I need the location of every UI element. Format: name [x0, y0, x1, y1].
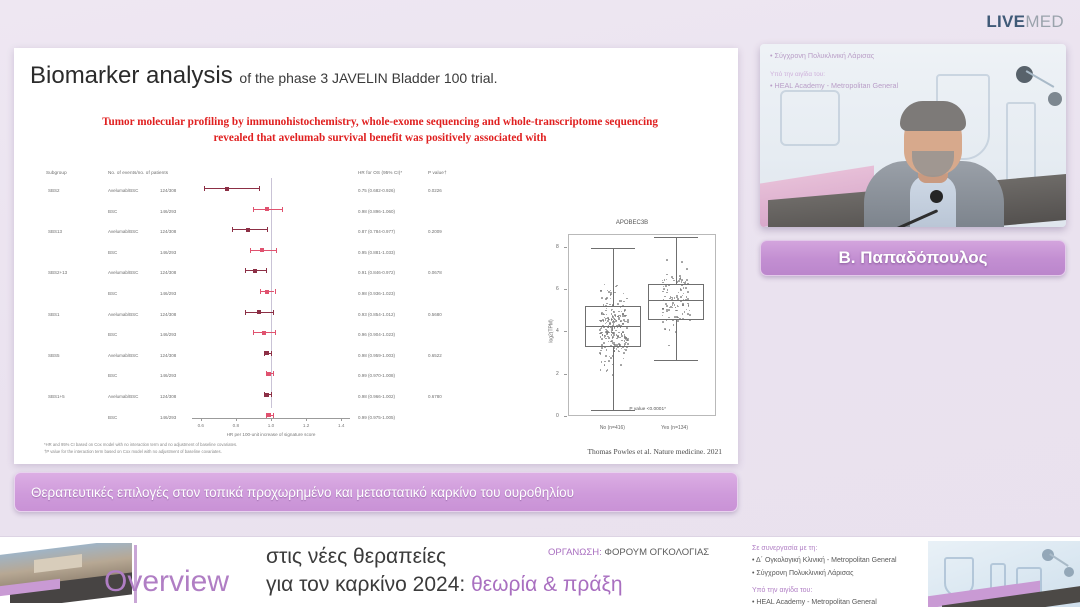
forest-ci-cap: [266, 268, 267, 273]
session-topic-text: Θεραπευτικές επιλογές στον τοπικά προχωρ…: [31, 485, 574, 500]
boxplot-whisker-cap: [654, 360, 698, 361]
speaker-name: Β. Παπαδόπουλος: [839, 248, 988, 268]
highlight-line-1: Tumor molecular profiling by immunohisto…: [36, 114, 724, 130]
boxplot-data-point: [689, 319, 691, 321]
forest-ci-cap: [259, 186, 260, 191]
boxplot-data-point: [600, 369, 602, 371]
forest-point-estimate: [257, 310, 261, 314]
boxplot-data-point: [605, 355, 607, 357]
forest-ci-cap: [275, 330, 276, 335]
forest-arm: BSC: [108, 373, 117, 378]
forest-plot: Subgroup No. of events/no. of patients H…: [40, 170, 460, 420]
presentation-slide[interactable]: Biomarker analysis of the phase 3 JAVELI…: [14, 48, 738, 464]
footer-headline-line1: στις νέες θεραπείες: [266, 545, 446, 569]
forest-ci-cap: [204, 186, 205, 191]
footnote-2: †P value for the interaction term based …: [44, 449, 237, 456]
livemed-logo: LIVEMED: [986, 8, 1064, 34]
forest-tick-label: 1.4: [338, 423, 344, 428]
boxplot-frame: P value <0.0001*: [568, 234, 716, 416]
forest-plot-area: [192, 178, 350, 418]
boxplot-y-tick: [564, 247, 567, 248]
boxplot-data-point: [604, 361, 606, 363]
boxplot-data-point: [623, 293, 625, 295]
boxplot-y-tick-label: 2: [556, 371, 559, 377]
forest-events: 124/308: [160, 312, 176, 317]
forest-hr-value: 0.96 (0.904-1.023): [358, 332, 395, 337]
forest-point-estimate: [225, 187, 229, 191]
boxplot-data-point: [686, 279, 688, 281]
speaker-nameplate: Β. Παπαδόπουλος: [760, 240, 1066, 276]
boxplot-whisker: [676, 237, 677, 284]
video-backdrop-text: • Σύγχρονη Πολυκλινική Λάρισας Υπό την α…: [770, 50, 898, 92]
boxplot-data-point: [681, 261, 683, 263]
boxplot-data-point: [625, 349, 627, 351]
logo-live-text: LIVE: [986, 12, 1025, 31]
forest-hr-value: 0.91 (0.846-0.972): [358, 270, 395, 275]
forest-ci-cap: [276, 248, 277, 253]
boxplot-y-tick-label: 4: [556, 328, 559, 334]
session-topic-banner: Θεραπευτικές επιλογές στον τοπικά προχωρ…: [14, 472, 738, 512]
boxplot-data-point: [606, 349, 608, 351]
forest-arm: Avelumab/BSC: [108, 270, 138, 275]
molecule-bond-icon: [1049, 553, 1069, 567]
forest-point-estimate: [267, 413, 271, 417]
boxplot-x-category-label: Yes (n=134): [661, 425, 688, 431]
boxplot-data-point: [610, 357, 612, 359]
forest-events: 124/308: [160, 270, 176, 275]
forest-ci-cap: [250, 248, 251, 253]
boxplot-y-tick-label: 0: [556, 413, 559, 419]
boxplot-data-point: [610, 293, 612, 295]
boxplot-data-point: [679, 275, 681, 277]
forest-ci-cap: [245, 310, 246, 315]
footer-organizer: ΟΡΓΑΝΩΣΗ: ΦΟΡΟΥΜ ΟΓΚΟΛΟΓΙΑΣ: [548, 547, 709, 558]
forest-hr-value: 0.98 (0.896-1.060): [358, 209, 395, 214]
event-footer: Overview στις νέες θεραπείες για τον καρ…: [0, 536, 1080, 608]
forest-ci-cap: [271, 392, 272, 397]
boxplot-y-tick-label: 6: [556, 286, 559, 292]
app-root: LIVEMED Biomarker analysis of the phase …: [0, 0, 1080, 608]
forest-header-hr: HR for OS (95% CI)*: [358, 170, 402, 175]
forest-ci-cap: [273, 371, 274, 376]
speaker-video[interactable]: • Σύγχρονη Πολυκλινική Λάρισας Υπό την α…: [760, 44, 1066, 227]
forest-subgroup: SBS2: [48, 188, 60, 193]
boxplot-whisker: [613, 248, 614, 306]
forest-tick-label: 0.8: [233, 423, 239, 428]
forest-p-value: 0.6522: [428, 353, 442, 358]
footer-organizer-value: ΦΟΡΟΥΜ ΟΓΚΟΛΟΓΙΑΣ: [602, 547, 709, 558]
forest-point-estimate: [265, 351, 269, 355]
footer-overview-label: Overview: [104, 565, 229, 599]
forest-subgroup: SBS1: [48, 312, 60, 317]
forest-tick: [341, 418, 342, 421]
boxplot-y-tick-label: 8: [556, 244, 559, 250]
boxplot-y-axis-label: log2(TPM): [549, 319, 555, 342]
boxplot-y-tick: [564, 331, 567, 332]
boxplot-data-point: [610, 298, 612, 300]
boxplot-data-point: [681, 281, 683, 283]
boxplot-title: APOBEC3B: [542, 220, 722, 226]
forest-events: 146/293: [160, 291, 176, 296]
forest-ci-cap: [232, 227, 233, 232]
forest-arm: BSC: [108, 291, 117, 296]
boxplot-data-point: [662, 321, 664, 323]
forest-ci-cap: [253, 330, 254, 335]
forest-ci-line: [204, 188, 258, 189]
footer-coop-2: • Σύγχρονη Πολυκλινική Λάρισας: [752, 568, 897, 580]
slide-highlight-text: Tumor molecular profiling by immunohisto…: [36, 114, 724, 146]
footer-aegis-title: Υπό την αιγίδα του:: [752, 585, 897, 597]
speaker-figure: [858, 99, 1008, 227]
slide-title: Biomarker analysis of the phase 3 JAVELI…: [30, 62, 726, 90]
boxplot-whisker: [613, 347, 614, 409]
forest-hr-value: 0.75 (0.682-0.926): [358, 188, 395, 193]
forest-arm: BSC: [108, 209, 117, 214]
boxplot-data-point: [617, 303, 619, 305]
boxplot-data-point: [620, 300, 622, 302]
forest-p-value: 0.5680: [428, 312, 442, 317]
forest-ci-cap: [275, 289, 276, 294]
apobec3b-boxplot: APOBEC3B log2(TPM) P value <0.0001* 0246…: [542, 220, 722, 442]
boxplot-data-point: [685, 281, 687, 283]
boxplot-data-point: [626, 298, 628, 300]
forest-ci-cap: [260, 289, 261, 294]
slide-title-main: Biomarker analysis: [30, 62, 233, 89]
footer-headline-line2: για τον καρκίνο 2024: θεωρία & πράξη: [266, 573, 623, 597]
forest-point-estimate: [246, 228, 250, 232]
forest-hr-value: 0.99 (0.970-1.008): [358, 373, 395, 378]
boxplot-y-tick: [564, 374, 567, 375]
forest-hr-value: 0.98 (0.936-1.023): [358, 291, 395, 296]
boxplot-data-point: [664, 328, 666, 330]
boxplot-data-point: [666, 259, 668, 261]
boxplot-data-point: [673, 324, 675, 326]
boxplot-data-point: [606, 297, 608, 299]
forest-p-value: 0.0678: [428, 270, 442, 275]
logo-med-text: MED: [1025, 12, 1064, 31]
boxplot-data-point: [600, 353, 602, 355]
boxplot-data-point: [623, 358, 625, 360]
forest-p-value: 0.0226: [428, 188, 442, 193]
boxplot-whisker: [676, 320, 677, 360]
forest-tick: [201, 418, 202, 421]
forest-ci-cap: [273, 310, 274, 315]
boxplot-box: [648, 284, 704, 320]
boxplot-data-point: [601, 361, 603, 363]
forest-tick: [271, 418, 272, 421]
forest-hr-value: 0.98 (0.959-1.003): [358, 353, 395, 358]
boxplot-data-point: [614, 292, 616, 294]
boxplot-data-point: [666, 274, 668, 276]
forest-point-estimate: [260, 248, 264, 252]
boxplot-whisker-cap: [654, 237, 698, 238]
boxplot-data-point: [608, 291, 610, 293]
forest-point-estimate: [267, 372, 271, 376]
boxplot-data-point: [686, 268, 688, 270]
microphone-head-icon: [930, 190, 943, 203]
forest-events: 146/293: [160, 332, 176, 337]
slide-title-sub: of the phase 3 JAVELIN Bladder 100 trial…: [239, 70, 497, 86]
boxplot-data-point: [621, 348, 623, 350]
boxplot-pvalue-annotation: P value <0.0001*: [629, 407, 666, 412]
boxplot-data-point: [604, 364, 606, 366]
forest-header-subgroup: Subgroup: [46, 170, 67, 175]
boxplot-data-point: [669, 329, 671, 331]
boxplot-data-point: [608, 360, 610, 362]
beaker-icon: [780, 90, 840, 146]
boxplot-data-point: [677, 320, 679, 322]
forest-events: 124/308: [160, 394, 176, 399]
forest-hr-value: 0.93 (0.854-1.012): [358, 312, 395, 317]
forest-tick-label: 1.0: [268, 423, 274, 428]
boxplot-data-point: [600, 290, 602, 292]
forest-events: 146/293: [160, 250, 176, 255]
forest-tick: [236, 418, 237, 421]
boxplot-data-point: [618, 351, 620, 353]
forest-point-estimate: [253, 269, 257, 273]
boxplot-data-point: [606, 303, 608, 305]
boxplot-median-line: [648, 300, 704, 301]
slide-citation: Thomas Powles et al. Nature medicine. 20…: [587, 447, 722, 456]
slide-footnotes: *HR and 95% CI based on Cox model with n…: [44, 442, 237, 455]
footer-coop-title: Σε συνεργασία με τη:: [752, 543, 897, 555]
molecule-node-icon: [1048, 92, 1062, 106]
forest-hr-value: 0.95 (0.881-1.033): [358, 250, 395, 255]
boxplot-y-tick: [564, 416, 567, 417]
forest-subgroup: SBS5: [48, 353, 60, 358]
forest-arm: Avelumab/BSC: [108, 229, 138, 234]
forest-header-events: No. of events/no. of patients: [108, 170, 168, 175]
footer-coop-1: • Δ΄ Ογκολογική Κλινική - Metropolitan G…: [752, 555, 897, 567]
boxplot-data-point: [601, 297, 603, 299]
forest-point-estimate: [262, 331, 266, 335]
forest-arm: Avelumab/BSC: [108, 353, 138, 358]
highlight-line-2: revealed that avelumab survival benefit …: [36, 130, 724, 146]
forest-tick-label: 1.2: [303, 423, 309, 428]
footer-partners: Σε συνεργασία με τη: • Δ΄ Ογκολογική Κλι…: [752, 543, 897, 608]
forest-arm: BSC: [108, 415, 117, 420]
forest-x-axis-label: HR per 100-unit increase of signature sc…: [192, 432, 350, 437]
forest-hr-value: 0.99 (0.975-1.005): [358, 415, 395, 420]
forest-subgroup: SBS2+13: [48, 270, 67, 275]
boxplot-data-point: [623, 352, 625, 354]
forest-events: 124/308: [160, 229, 176, 234]
boxplot-data-point: [623, 301, 625, 303]
boxplot-data-point: [620, 364, 622, 366]
footer-headline-accent: θεωρία & πράξη: [471, 573, 623, 596]
forest-events: 124/308: [160, 353, 176, 358]
boxplot-y-tick: [564, 289, 567, 290]
forest-subgroup: SBS1+5: [48, 394, 65, 399]
forest-ci-cap: [253, 207, 254, 212]
footer-headline-prefix: για τον καρκίνο 2024:: [266, 573, 471, 596]
forest-events: 146/293: [160, 373, 176, 378]
forest-ci-cap: [271, 351, 272, 356]
forest-tick-label: 0.6: [198, 423, 204, 428]
boxplot-x-category-label: No (n=416): [600, 425, 625, 431]
backdrop-line-2: Υπό την αιγίδα του:: [770, 69, 898, 80]
forest-header-pvalue: P value†: [428, 170, 447, 175]
backdrop-line-1: • Σύγχρονη Πολυκλινική Λάρισας: [770, 50, 898, 63]
forest-ci-cap: [245, 268, 246, 273]
forest-hr-value: 0.98 (0.966-1.002): [358, 394, 395, 399]
forest-point-estimate: [265, 290, 269, 294]
boxplot-whisker-cap: [591, 248, 635, 249]
forest-arm: BSC: [108, 332, 117, 337]
boxplot-data-point: [666, 279, 668, 281]
forest-subgroup: SBS13: [48, 229, 62, 234]
forest-p-value: 0.2009: [428, 229, 442, 234]
forest-events: 146/293: [160, 209, 176, 214]
boxplot-median-line: [585, 326, 641, 327]
forest-arm: Avelumab/BSC: [108, 394, 138, 399]
forest-p-value: 0.6780: [428, 394, 442, 399]
forest-ci-cap: [267, 227, 268, 232]
forest-events: 124/308: [160, 188, 176, 193]
forest-point-estimate: [265, 393, 269, 397]
laboratory-image: [928, 541, 1080, 607]
boxplot-data-point: [601, 347, 603, 349]
forest-arm: BSC: [108, 250, 117, 255]
boxplot-data-point: [678, 280, 680, 282]
forest-hr-value: 0.87 (0.784-0.977): [358, 229, 395, 234]
forest-ci-cap: [273, 413, 274, 418]
forest-x-axis: 0.60.81.01.21.4: [192, 418, 350, 419]
footnote-1: *HR and 95% CI based on Cox model with n…: [44, 442, 237, 449]
forest-arm: Avelumab/BSC: [108, 312, 138, 317]
backdrop-line-3: • HEAL Academy - Metropolitan General: [770, 80, 898, 93]
boxplot-data-point: [604, 284, 606, 286]
footer-organizer-key: ΟΡΓΑΝΩΣΗ:: [548, 547, 602, 558]
footer-aegis-1: • HEAL Academy - Metropolitan General: [752, 597, 897, 608]
forest-point-estimate: [265, 207, 269, 211]
forest-arm: Avelumab/BSC: [108, 188, 138, 193]
boxplot-data-point: [668, 345, 670, 347]
speaker-hair: [900, 101, 966, 131]
molecule-node-icon: [1064, 567, 1074, 577]
forest-ci-cap: [282, 207, 283, 212]
forest-events: 146/293: [160, 415, 176, 420]
forest-tick: [306, 418, 307, 421]
